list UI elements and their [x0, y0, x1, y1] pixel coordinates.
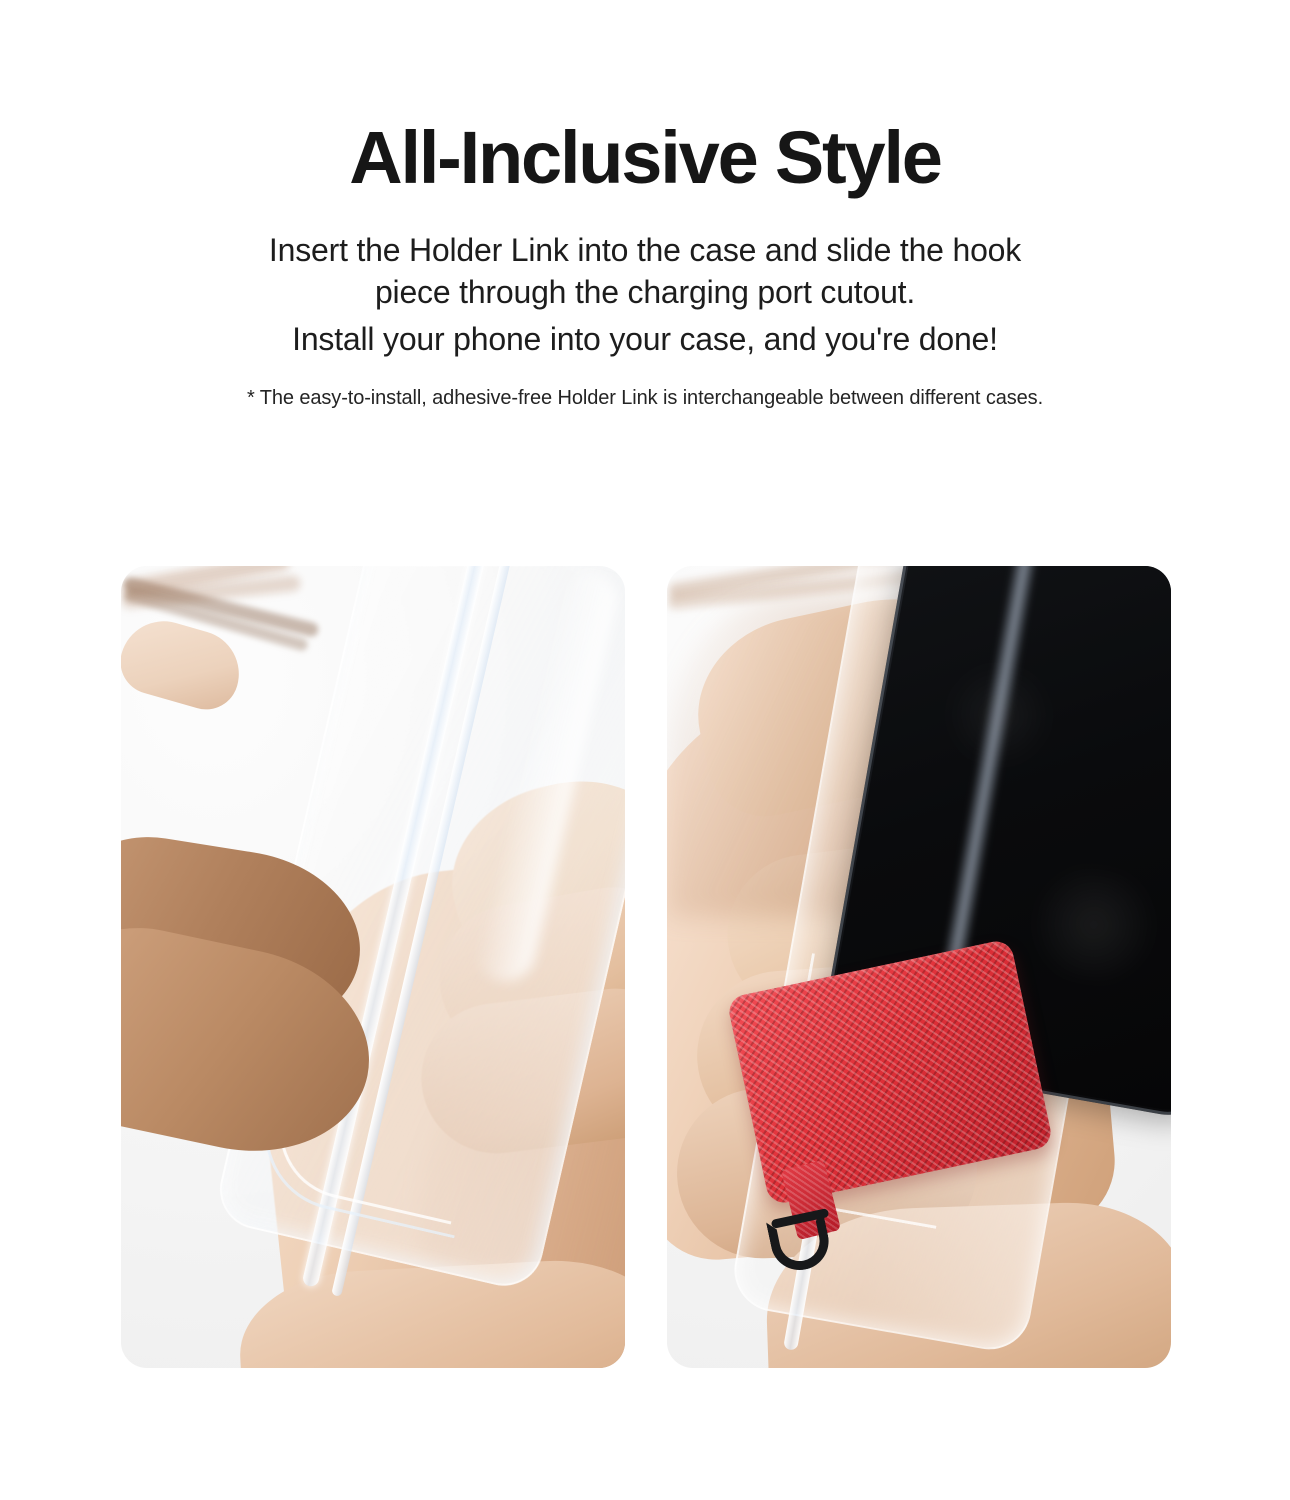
step-2-image	[667, 566, 1171, 1368]
step-images-row	[121, 566, 1170, 1368]
description-line-2: piece through the charging port cutout.	[0, 272, 1290, 314]
product-feature-page: All-Inclusive Style Insert the Holder Li…	[0, 0, 1290, 1500]
step-1-image	[121, 566, 625, 1368]
footnote-text: * The easy-to-install, adhesive-free Hol…	[0, 385, 1290, 412]
description-line-3: Install your phone into your case, and y…	[0, 319, 1290, 361]
description-line-1: Insert the Holder Link into the case and…	[0, 230, 1290, 272]
page-title: All-Inclusive Style	[0, 118, 1290, 198]
copy-block: All-Inclusive Style Insert the Holder Li…	[0, 118, 1290, 412]
description-text: Insert the Holder Link into the case and…	[0, 230, 1290, 361]
